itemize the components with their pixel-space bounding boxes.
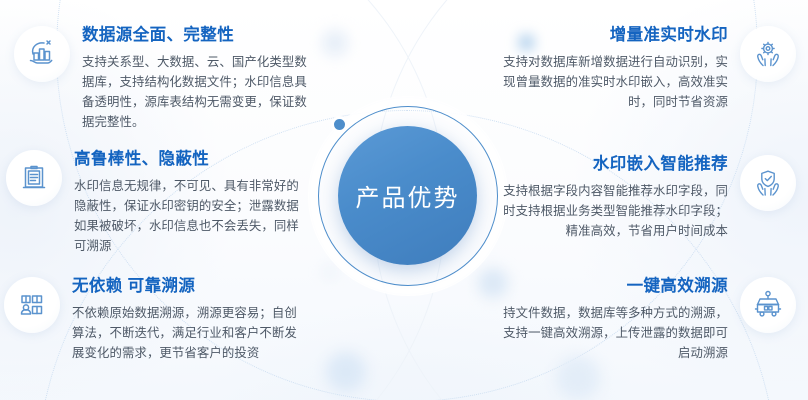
feature-text: 数据源全面、完整性 支持关系型、大数据、云、国产化类型数据库，支持结构化数据文件…: [70, 26, 314, 132]
feature-text: 增量准实时水印 支持对数据库新增数据进行自动识别，实现曾量数据的准实时水印嵌入，…: [498, 26, 740, 112]
feature-text: 高鲁棒性、隐蔽性 水印信息无规律，不可见、具有非常好的隐蔽性，保证水印密钥的安全…: [62, 150, 306, 256]
feature-card-traceability[interactable]: 无依赖 可靠溯源 不依赖原始数据溯源，溯源更容易；自创算法，不断迭代，满足行业和…: [4, 277, 316, 363]
feature-body: 支持对数据库新增数据进行自动识别，实现曾量数据的准实时水印嵌入，高效准实时，同时…: [498, 52, 728, 112]
delivery-truck-trace-icon: [740, 277, 796, 333]
center-title: 产品优势: [356, 178, 460, 213]
feature-card-one-click-trace[interactable]: 一键高效溯源 持文件数据，数据库等多种方式的溯源，支持一键高效溯源，上传泄露的数…: [494, 277, 796, 363]
feature-card-data-source[interactable]: 数据源全面、完整性 支持关系型、大数据、云、国产化类型数据库，支持结构化数据文件…: [14, 26, 314, 132]
feature-card-robustness[interactable]: 高鲁棒性、隐蔽性 水印信息无规律，不可见、具有非常好的隐蔽性，保证水印密钥的安全…: [6, 150, 306, 256]
feature-title: 无依赖 可靠溯源: [72, 277, 308, 297]
feature-body: 不依赖原始数据溯源，溯源更容易；自创算法，不断迭代，满足行业和客户不断发展变化的…: [72, 303, 308, 363]
center-badge: 产品优势: [318, 106, 498, 286]
hands-shield-check-icon: [740, 155, 796, 211]
feature-card-smart-recommendation[interactable]: 水印嵌入智能推荐 支持根据字段内容智能推荐水印字段，同时支持根据业务类型智能推荐…: [500, 155, 796, 241]
feature-body: 支持根据字段内容智能推荐水印字段，同时支持根据业务类型智能推荐水印字段；精准高效…: [500, 181, 728, 241]
feature-text: 无依赖 可靠溯源 不依赖原始数据溯源，溯源更容易；自创算法，不断迭代，满足行业和…: [60, 277, 308, 363]
hands-gear-icon: [740, 26, 796, 82]
product-advantages-infographic: 产品优势 数据源全面、完整性 支持关系型、大数据、云、国产化类型数据库，支持结构…: [0, 0, 808, 400]
center-circle: 产品优势: [338, 126, 477, 265]
feature-title: 高鲁棒性、隐蔽性: [74, 150, 306, 170]
feature-title: 数据源全面、完整性: [82, 26, 314, 46]
feature-title: 增量准实时水印: [498, 26, 728, 46]
feature-title: 水印嵌入智能推荐: [500, 155, 728, 175]
feature-body: 水印信息无规律，不可见、具有非常好的隐蔽性，保证水印密钥的安全；泄露数据如果被破…: [74, 176, 306, 256]
feature-text: 一键高效溯源 持文件数据，数据库等多种方式的溯源，支持一键高效溯源，上传泄露的数…: [496, 277, 740, 363]
decorative-dot-upper-left: [322, 30, 348, 56]
clipboard-document-icon: [6, 150, 62, 206]
feature-card-incremental-watermark[interactable]: 增量准实时水印 支持对数据库新增数据进行自动识别，实现曾量数据的准实时水印嵌入，…: [498, 26, 796, 112]
feature-title: 一键高效溯源: [496, 277, 728, 297]
feature-text: 水印嵌入智能推荐 支持根据字段内容智能推荐水印字段，同时支持根据业务类型智能推荐…: [500, 155, 740, 241]
ring-marker-dot: [334, 119, 345, 130]
feature-body: 持文件数据，数据库等多种方式的溯源，支持一键高效溯源，上传泄露的数据即可启动溯源: [496, 303, 728, 363]
warehouse-tracking-icon: [4, 277, 60, 333]
decorative-dot-bottom-left: [326, 352, 366, 392]
hand-bar-chart-icon: [14, 26, 70, 82]
feature-body: 支持关系型、大数据、云、国产化类型数据库，支持结构化数据文件；水印信息具备透明性…: [82, 52, 314, 132]
